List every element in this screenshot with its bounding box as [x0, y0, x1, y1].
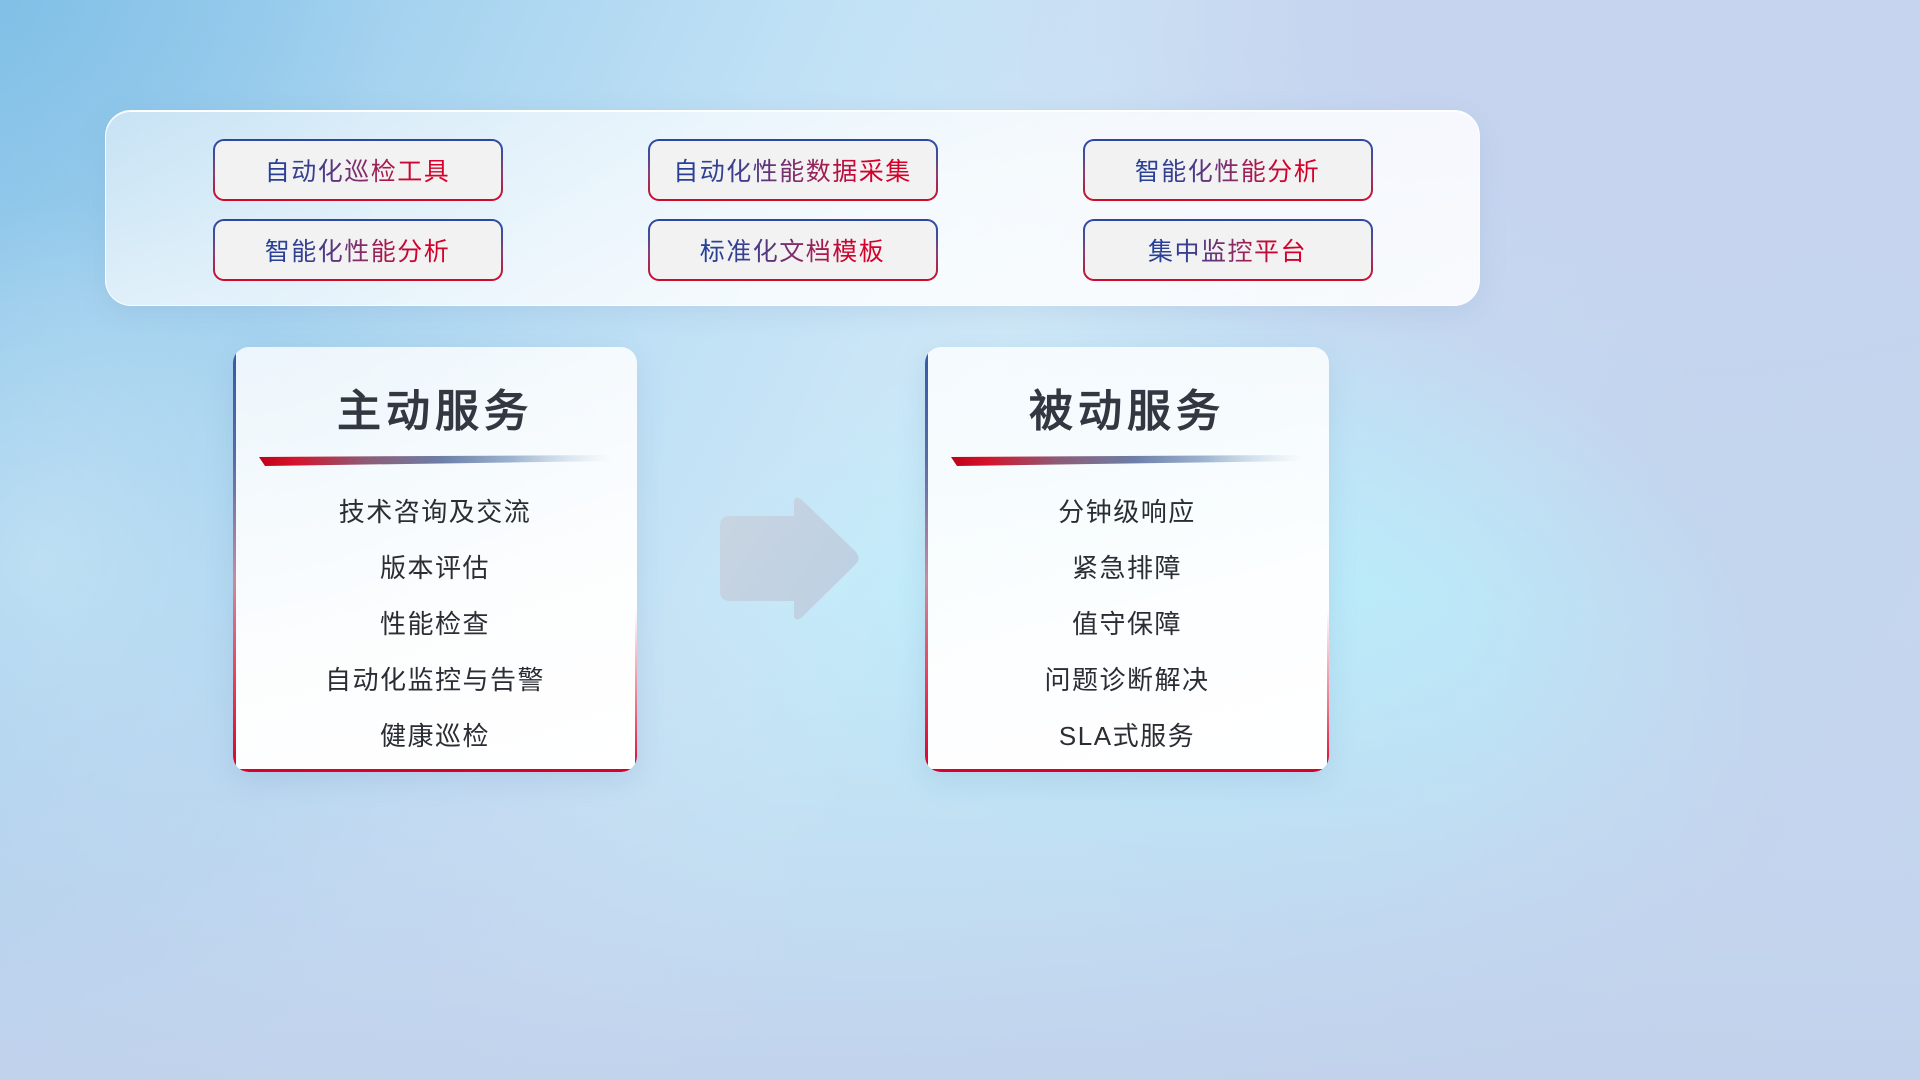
list-item: SLA式服务 [1059, 716, 1195, 753]
capability-pill-centralized-monitoring-platform[interactable]: 集中监控平台 [1083, 219, 1373, 281]
capability-pill-label: 智能化性能分析 [1135, 152, 1321, 188]
list-item: 分钟级响应 [1058, 492, 1196, 529]
list-item: 性能检查 [380, 604, 490, 641]
card-bottom-accent-bar [233, 769, 637, 772]
service-card-list: 分钟级响应 紧急排障 值守保障 问题诊断解决 SLA式服务 [925, 492, 1329, 753]
list-item: 紧急排障 [1072, 548, 1182, 585]
title-divider [951, 455, 1303, 468]
list-item: 自动化监控与告警 [325, 660, 545, 697]
capability-pill-intelligent-performance-analysis[interactable]: 智能化性能分析 [1083, 139, 1373, 201]
card-bottom-accent-bar [925, 769, 1329, 772]
service-card-list: 技术咨询及交流 版本评估 性能检查 自动化监控与告警 健康巡检 [233, 492, 637, 753]
list-item: 技术咨询及交流 [339, 492, 532, 529]
card-left-accent-bar [233, 347, 236, 772]
capability-pill-label: 自动化巡检工具 [265, 152, 451, 188]
list-item: 健康巡检 [380, 716, 490, 753]
list-item: 版本评估 [380, 548, 490, 585]
service-card-title: 被动服务 [925, 375, 1329, 439]
capability-pill-automated-inspection-tool[interactable]: 自动化巡检工具 [213, 139, 503, 201]
list-item: 问题诊断解决 [1044, 660, 1209, 697]
card-right-accent-bar [1327, 611, 1329, 773]
capability-pill-label: 智能化性能分析 [265, 232, 451, 268]
capability-pill-standardized-document-template[interactable]: 标准化文档模板 [648, 219, 938, 281]
flow-arrow-right-icon [712, 496, 860, 624]
card-right-accent-bar [635, 611, 637, 773]
capability-pill-label: 自动化性能数据采集 [673, 152, 912, 188]
title-divider [259, 455, 611, 468]
card-left-accent-bar [925, 347, 928, 772]
capabilities-panel: 自动化巡检工具 自动化性能数据采集 智能化性能分析 智能化性能分析 标准化文档模… [105, 110, 1480, 306]
capability-pill-label: 标准化文档模板 [700, 232, 886, 268]
capability-pill-automated-performance-data-collection[interactable]: 自动化性能数据采集 [648, 139, 938, 201]
capability-pill-label: 集中监控平台 [1148, 232, 1307, 268]
service-card-active: 主动服务 技术咨询及交流 版本评估 性能检查 自动化监控与告警 健康巡检 [233, 347, 637, 772]
capability-pill-intelligent-performance-analysis-2[interactable]: 智能化性能分析 [213, 219, 503, 281]
list-item: 值守保障 [1072, 604, 1182, 641]
service-card-passive: 被动服务 分钟级响应 紧急排障 值守保障 问题诊断解决 SLA式服务 [925, 347, 1329, 772]
service-card-title: 主动服务 [233, 375, 637, 439]
